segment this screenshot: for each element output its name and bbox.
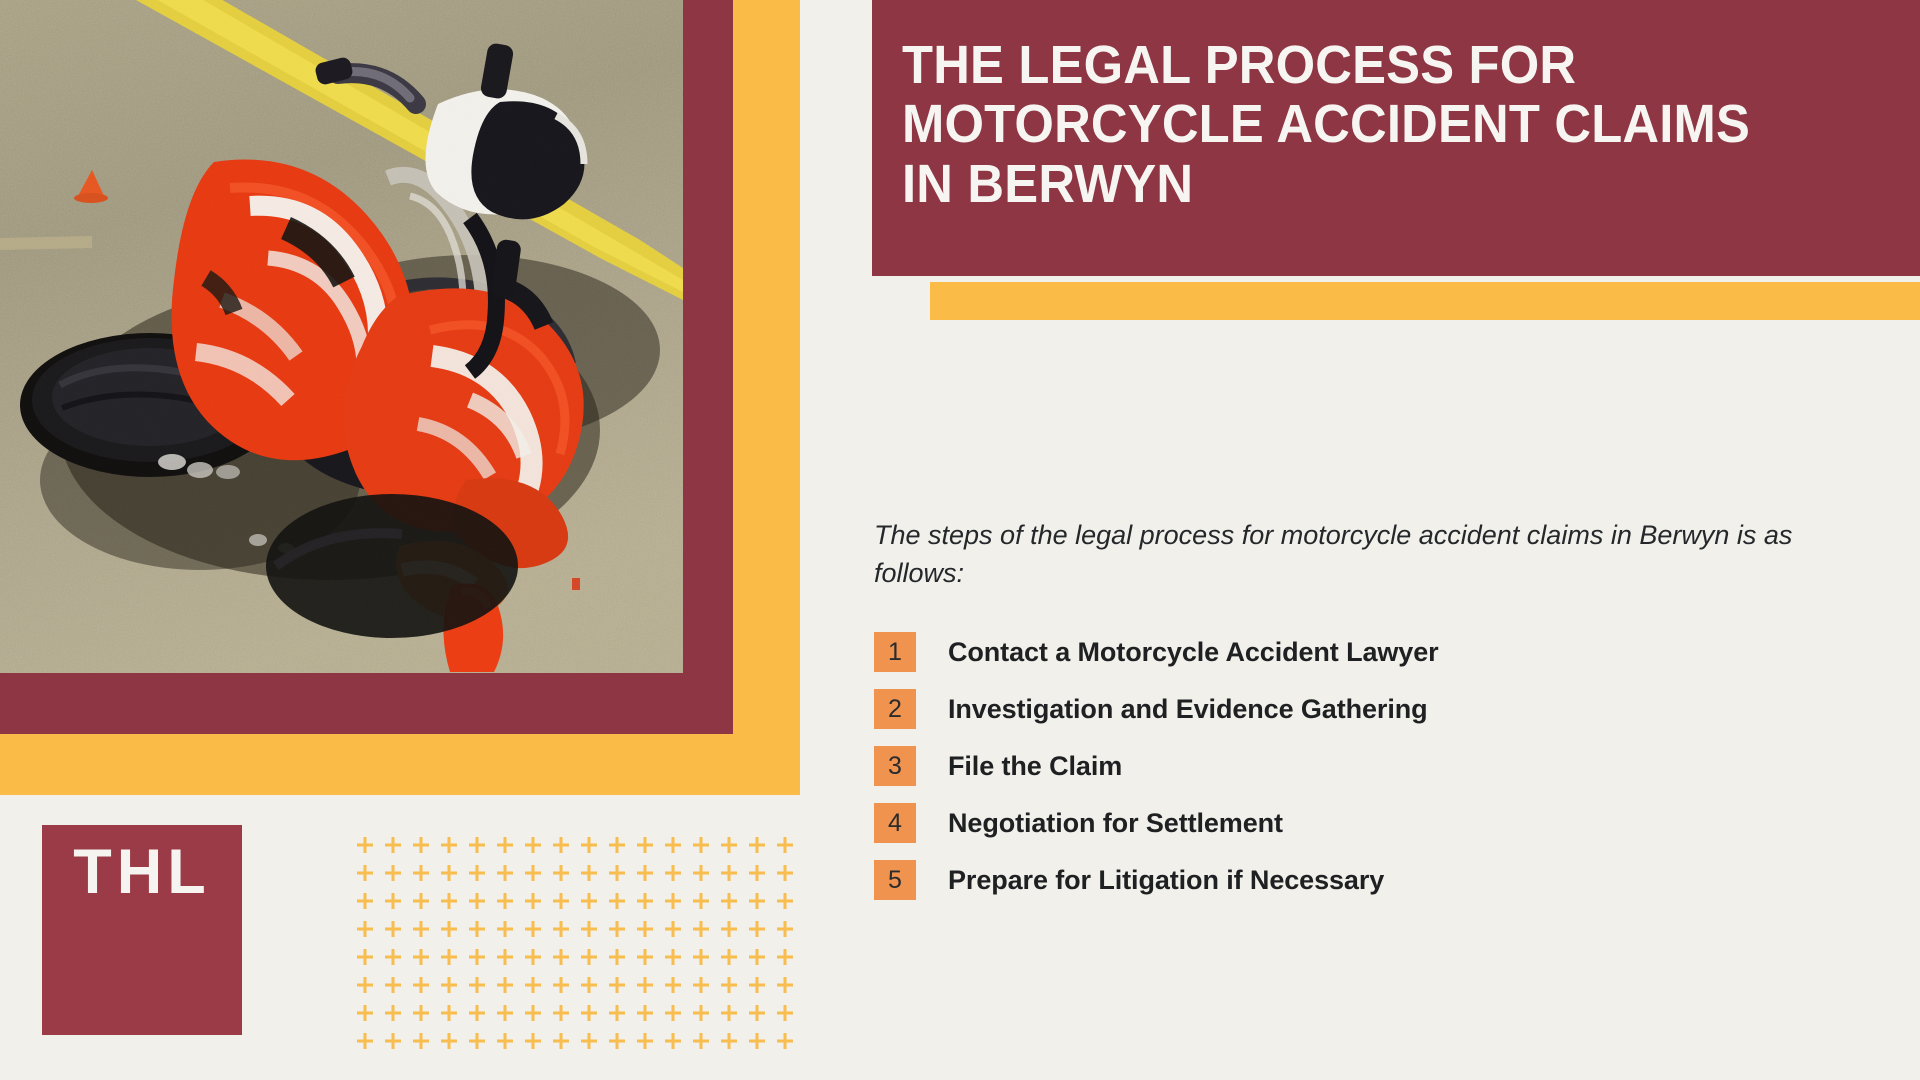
step-number-badge: 5 [874,860,916,900]
step-number-badge: 1 [874,632,916,672]
motorcycle-crash-photo [0,0,683,673]
photo-frame-yellow-horizontal [0,734,800,795]
step-number-badge: 4 [874,803,916,843]
photo-frame-yellow-vertical [733,0,800,734]
plus-icon-grid [355,835,797,1057]
step-label: Negotiation for Settlement [948,808,1283,839]
list-item: 4 Negotiation for Settlement [874,801,1834,845]
step-label: Contact a Motorcycle Accident Lawyer [948,637,1439,668]
list-item: 2 Investigation and Evidence Gathering [874,687,1834,731]
step-label: File the Claim [948,751,1122,782]
header-accent-bar [930,282,1920,320]
motorcycle-crash-illustration [0,0,683,673]
header-banner: THE LEGAL PROCESS FOR MOTORCYCLE ACCIDEN… [872,0,1920,276]
list-item: 3 File the Claim [874,744,1834,788]
step-number-badge: 3 [874,746,916,786]
plus-grid-decoration [355,835,797,1057]
page-title: THE LEGAL PROCESS FOR MOTORCYCLE ACCIDEN… [902,36,1803,214]
infographic-canvas: THE LEGAL PROCESS FOR MOTORCYCLE ACCIDEN… [0,0,1920,1080]
step-number-badge: 2 [874,689,916,729]
step-label: Prepare for Litigation if Necessary [948,865,1384,896]
steps-list: 1 Contact a Motorcycle Accident Lawyer 2… [874,630,1834,915]
intro-paragraph: The steps of the legal process for motor… [874,516,1804,593]
list-item: 5 Prepare for Litigation if Necessary [874,858,1834,902]
step-label: Investigation and Evidence Gathering [948,694,1428,725]
logo-text: THL [42,841,242,904]
list-item: 1 Contact a Motorcycle Accident Lawyer [874,630,1834,674]
thl-logo: THL [42,825,242,1035]
